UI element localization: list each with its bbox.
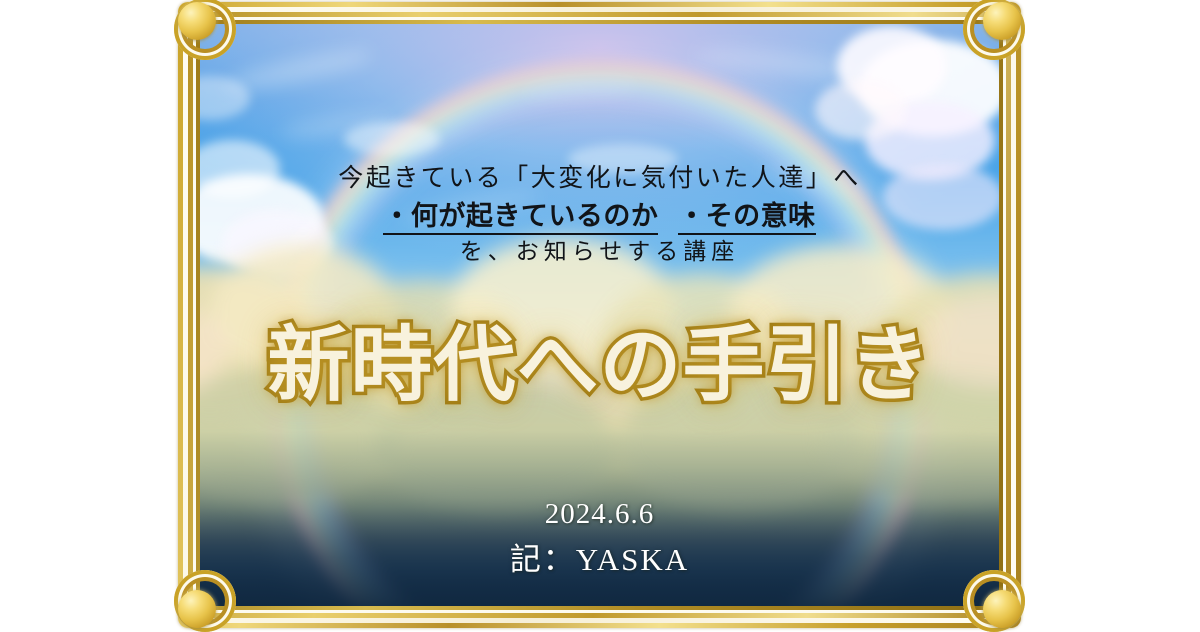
decorative-gold-frame: 今起きている「大変化に気付いた人達」へ ・何が起きているのか ・その意味 を、お… bbox=[178, 2, 1021, 628]
slide-canvas: 今起きている「大変化に気付いた人達」へ ・何が起きているのか ・その意味 を、お… bbox=[0, 0, 1200, 630]
artwork-viewport: 今起きている「大変化に気付いた人達」へ ・何が起きているのか ・その意味 を、お… bbox=[200, 24, 999, 606]
subtitle-line-1: 今起きている「大変化に気付いた人達」へ bbox=[200, 158, 999, 194]
frame-corner-top-left bbox=[174, 0, 236, 60]
subtitle-line-2-part-1: ・何が起きているのか bbox=[383, 201, 658, 235]
main-title: 新時代への手引き bbox=[200, 298, 999, 417]
subtitle-line-2-part-2: ・その意味 bbox=[678, 201, 816, 235]
gold-circle-icon bbox=[983, 590, 1021, 628]
credit-author: 記：YASKA bbox=[200, 534, 999, 579]
gold-circle-icon bbox=[178, 590, 216, 628]
text-layer: 今起きている「大変化に気付いた人達」へ ・何が起きているのか ・その意味 を、お… bbox=[200, 24, 999, 606]
subtitle-line-2: ・何が起きているのか ・その意味 bbox=[200, 194, 999, 233]
frame-corner-bottom-left bbox=[174, 570, 236, 632]
gold-circle-icon bbox=[178, 2, 216, 40]
gold-circle-icon bbox=[983, 2, 1021, 40]
frame-corner-top-right bbox=[963, 0, 1025, 60]
frame-corner-bottom-right bbox=[963, 570, 1025, 632]
subtitle-line-3: を、お知らせする講座 bbox=[200, 232, 999, 266]
credit-date: 2024.6.6 bbox=[200, 498, 999, 531]
